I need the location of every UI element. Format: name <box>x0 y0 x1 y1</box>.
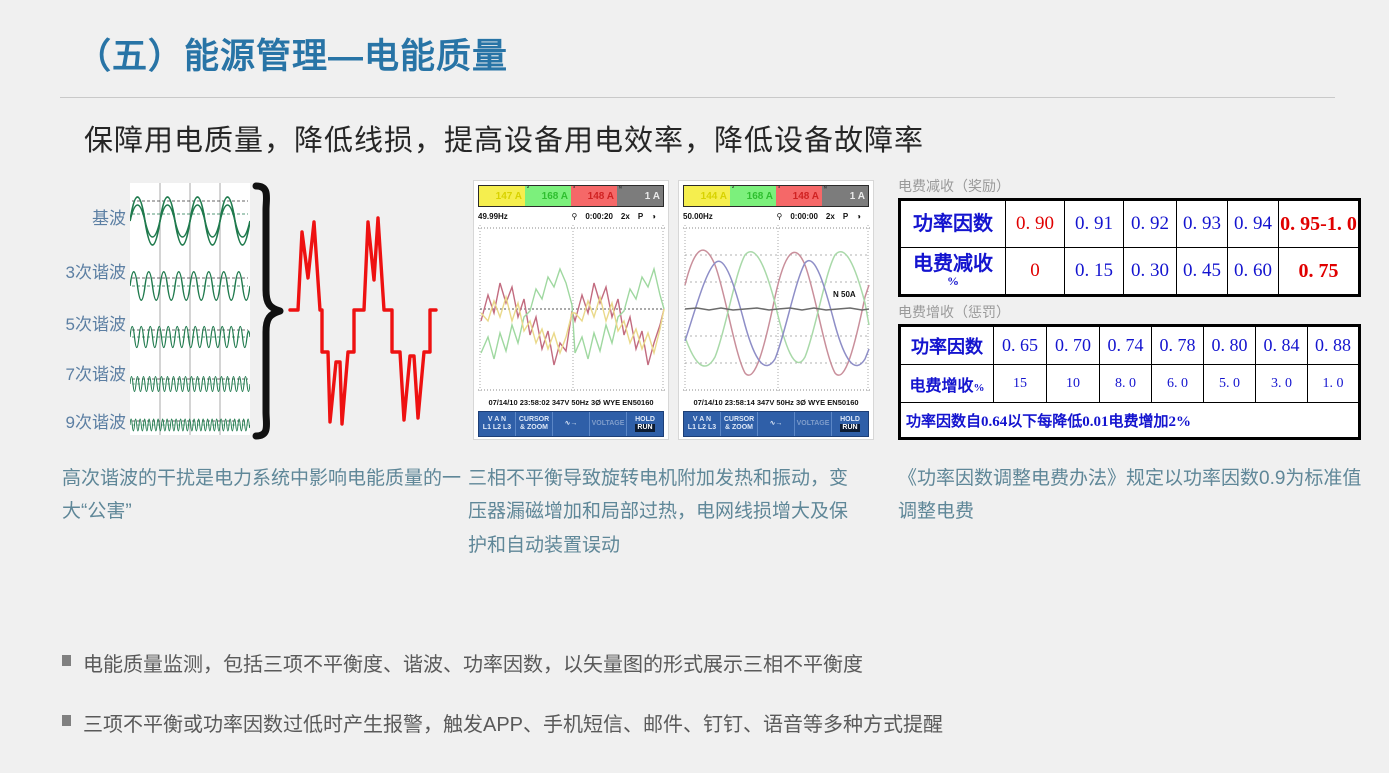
phase-segment-l1: 144 A <box>684 186 730 206</box>
waveform-plot-right: N 50A <box>683 225 869 393</box>
softkey-voltage[interactable]: VOLTAGE <box>795 412 832 436</box>
harmonic-label-3rd: 3次谐波 <box>66 258 126 283</box>
battery-icon: ◑ <box>651 212 656 221</box>
cell-pf-093: 0. 93 <box>1177 200 1228 248</box>
row-header-text: 电费增收 <box>909 378 973 395</box>
cell-pf-074: 0. 74 <box>1100 326 1152 365</box>
softkey-cursor-zoom[interactable]: CURSOR & ZOOM <box>721 412 758 436</box>
phase-segment-l2: ² 168 A <box>525 186 571 206</box>
softkey-line-1: HOLD <box>840 416 860 424</box>
subtitle: 保障用电质量，降低线损，提高设备用电效率，降低设备故障率 <box>84 117 924 159</box>
page-title: （五）能源管理—电能质量 <box>76 28 508 79</box>
penalty-note: 功率因数自0.64以下每降低0.01电费增加2% <box>900 403 1360 439</box>
cell-red-030: 0. 30 <box>1124 248 1177 296</box>
mode-flag: P <box>843 212 848 221</box>
zoom-level: 2x <box>621 212 630 221</box>
phase-segment-l2: ² 168 A <box>730 186 776 206</box>
cell-inc-80: 8. 0 <box>1100 365 1152 403</box>
waveform-arrow-icon: ∿→ <box>770 420 783 428</box>
elapsed-timer: 0:00:20 <box>585 212 613 221</box>
bullet-item-1: 电能质量监测，包括三项不平衡度、谐波、功率因数，以矢量图的形式展示三相不平衡度 <box>62 648 863 677</box>
cell-pf-070: 0. 70 <box>1047 326 1100 365</box>
phase-value: 1 A <box>850 191 865 202</box>
trigger-icon: ⚲ <box>571 212 577 221</box>
meter-footer-left: 07/14/10 23:58:02 347V 50Hz 3Ø WYE EN501… <box>478 395 664 409</box>
power-analyzer-screen-left: 147 A ² 168 A ³ 148 A ᴺ 1 A 49.99Hz ⚲ 0:… <box>473 180 669 440</box>
table-row: 功率因数 0. 90 0. 91 0. 92 0. 93 0. 94 0. 95… <box>900 200 1360 248</box>
row-header-reduction: 电费减收 % <box>900 248 1006 296</box>
frequency-readout: 50.00Hz <box>683 212 729 221</box>
harmonic-label-9th: 9次谐波 <box>66 408 126 433</box>
cell-pf-091: 0. 91 <box>1065 200 1124 248</box>
composite-waveform <box>288 192 470 432</box>
phase-segment-l3: ³ 148 A <box>571 186 617 206</box>
cell-red-045: 0. 45 <box>1177 248 1228 296</box>
phase-segment-l3: ³ 148 A <box>776 186 822 206</box>
row-header-power-factor: 功率因数 <box>900 326 994 365</box>
phase-value: 144 A <box>701 191 727 202</box>
harmonic-figure: 基波 3次谐波 5次谐波 7次谐波 9次谐波 <box>30 180 470 442</box>
softkey-line-1: CURSOR <box>519 416 549 424</box>
softkey-line-1: CURSOR <box>724 416 754 424</box>
waveform-plot-left <box>478 225 664 393</box>
bullet-square-icon <box>62 715 71 726</box>
meter-softkeys-left: V A N L1 L2 L3 CURSOR & ZOOM ∿→ VOLTAGE … <box>478 411 664 437</box>
softkey-waveform-icon[interactable]: ∿→ <box>758 412 795 436</box>
bullet-text: 电能质量监测，包括三项不平衡度、谐波、功率因数，以矢量图的形式展示三相不平衡度 <box>83 648 863 677</box>
bullet-item-2: 三项不平衡或功率因数过低时产生报警，触发APP、手机短信、邮件、钉钉、语音等多种… <box>62 708 943 737</box>
softkey-line-1: HOLD <box>635 416 655 424</box>
softkey-channel-select[interactable]: V A N L1 L2 L3 <box>479 412 516 436</box>
softkey-waveform-icon[interactable]: ∿→ <box>553 412 590 436</box>
elapsed-timer: 0:00:00 <box>790 212 818 221</box>
harmonic-label-fundamental: 基波 <box>92 204 126 229</box>
cell-red-060: 0. 60 <box>1228 248 1279 296</box>
row-header-unit: % <box>902 275 1004 288</box>
frequency-readout: 49.99Hz <box>478 212 524 221</box>
power-analyzer-screen-right: 144 A ² 168 A ³ 148 A ᴺ 1 A 50.00Hz ⚲ 0:… <box>678 180 874 440</box>
cell-inc-60: 6. 0 <box>1152 365 1204 403</box>
caption-harmonics: 高次谐波的干扰是电力系统中影响电能质量的一大“公害” <box>62 462 462 529</box>
phase-marker: ³ <box>573 186 575 192</box>
meter-status-row-right: 50.00Hz ⚲ 0:00:00 2x P ◑ <box>683 209 869 223</box>
phase-marker: ³ <box>778 186 780 192</box>
svg-text:N 50A: N 50A <box>833 290 856 299</box>
caption-tariff: 《功率因数调整电费办法》规定以功率因数0.9为标准值调整电费 <box>898 462 1368 529</box>
softkey-line-2: L1 L2 L3 <box>688 424 716 432</box>
cell-pf-095-10: 0. 95-1. 0 <box>1279 200 1360 248</box>
phase-marker: ² <box>732 186 734 192</box>
harmonic-label-5th: 5次谐波 <box>66 310 126 335</box>
mode-flag: P <box>638 212 643 221</box>
cell-inc-30: 3. 0 <box>1256 365 1308 403</box>
bullet-square-icon <box>62 655 71 666</box>
cell-pf-065: 0. 65 <box>994 326 1047 365</box>
cell-pf-090: 0. 90 <box>1006 200 1065 248</box>
table-row: 功率因数 0. 65 0. 70 0. 74 0. 78 0. 80 0. 84… <box>900 326 1360 365</box>
cell-pf-080: 0. 80 <box>1204 326 1256 365</box>
cell-pf-084: 0. 84 <box>1256 326 1308 365</box>
cell-red-015: 0. 15 <box>1065 248 1124 296</box>
phase-current-bar-left: 147 A ² 168 A ³ 148 A ᴺ 1 A <box>478 185 664 207</box>
phase-segment-n: ᴺ 1 A <box>822 186 868 206</box>
row-header-increase: 电费增收% <box>900 365 994 403</box>
softkey-line-1: V A N <box>488 416 506 424</box>
phase-segment-n: ᴺ 1 A <box>617 186 663 206</box>
cell-inc-10b: 1. 0 <box>1308 365 1360 403</box>
reward-table-caption: 电费减收（奖励） <box>898 176 1361 196</box>
penalty-table: 功率因数 0. 65 0. 70 0. 74 0. 78 0. 80 0. 84… <box>898 324 1361 440</box>
softkey-hold-run[interactable]: HOLD RUN <box>832 412 868 436</box>
harmonic-label-7th: 7次谐波 <box>66 360 126 385</box>
softkey-line-1: VOLTAGE <box>797 420 830 428</box>
slide-root: （五）能源管理—电能质量 保障用电质量，降低线损，提高设备用电效率，降低设备故障… <box>0 0 1389 773</box>
softkey-line-2: RUN <box>840 424 859 432</box>
softkey-channel-select[interactable]: V A N L1 L2 L3 <box>684 412 721 436</box>
phase-value: 168 A <box>542 191 568 202</box>
softkey-line-1: V A N <box>693 416 711 424</box>
penalty-table-caption: 电费增收（惩罚） <box>898 302 1361 322</box>
trigger-icon: ⚲ <box>776 212 782 221</box>
phase-value: 147 A <box>496 191 522 202</box>
softkey-line-2: L1 L2 L3 <box>483 424 511 432</box>
phase-value: 168 A <box>747 191 773 202</box>
zoom-level: 2x <box>826 212 835 221</box>
phase-value: 1 A <box>645 191 660 202</box>
cell-inc-10: 10 <box>1047 365 1100 403</box>
penalty-table-block: 电费增收（惩罚） 功率因数 0. 65 0. 70 0. 74 0. 78 0.… <box>898 302 1361 440</box>
row-header-unit: % <box>974 382 985 394</box>
harmonic-label-list: 基波 3次谐波 5次谐波 7次谐波 9次谐波 <box>30 180 130 442</box>
cell-pf-078: 0. 78 <box>1152 326 1204 365</box>
softkey-hold-run[interactable]: HOLD RUN <box>627 412 663 436</box>
reward-table-block: 电费减收（奖励） 功率因数 0. 90 0. 91 0. 92 0. 93 0.… <box>898 176 1361 297</box>
phase-current-bar-right: 144 A ² 168 A ³ 148 A ᴺ 1 A <box>683 185 869 207</box>
cell-red-075: 0. 75 <box>1279 248 1360 296</box>
cell-red-0: 0 <box>1006 248 1065 296</box>
phase-value: 148 A <box>588 191 614 202</box>
cell-pf-094: 0. 94 <box>1228 200 1279 248</box>
softkey-line-2: & ZOOM <box>520 424 548 432</box>
phase-segment-l1: 147 A <box>479 186 525 206</box>
harmonic-waves-svg <box>130 183 250 435</box>
battery-icon: ◑ <box>856 212 861 221</box>
softkey-line-2: & ZOOM <box>725 424 753 432</box>
softkey-line-1: VOLTAGE <box>592 420 625 428</box>
meter-softkeys-right: V A N L1 L2 L3 CURSOR & ZOOM ∿→ VOLTAGE … <box>683 411 869 437</box>
table-row: 电费减收 % 0 0. 15 0. 30 0. 45 0. 60 0. 75 <box>900 248 1360 296</box>
phase-marker: ² <box>527 186 529 192</box>
phase-marker: ᴺ <box>824 186 827 192</box>
bullet-text: 三项不平衡或功率因数过低时产生报警，触发APP、手机短信、邮件、钉钉、语音等多种… <box>83 708 943 737</box>
row-header-text: 电费减收 <box>913 253 993 275</box>
waveform-arrow-icon: ∿→ <box>565 420 578 428</box>
phase-value: 148 A <box>793 191 819 202</box>
table-row: 电费增收% 15 10 8. 0 6. 0 5. 0 3. 0 1. 0 <box>900 365 1360 403</box>
cell-pf-088: 0. 88 <box>1308 326 1360 365</box>
title-divider <box>60 97 1335 98</box>
cell-pf-092: 0. 92 <box>1124 200 1177 248</box>
caption-unbalance: 三相不平衡导致旋转电机附加发热和振动，变压器漏磁增加和局部过热，电网线损增大及保… <box>468 462 858 562</box>
phase-marker: ᴺ <box>619 186 622 192</box>
table-row: 功率因数自0.64以下每降低0.01电费增加2% <box>900 403 1360 439</box>
harmonic-wave-panel <box>130 183 250 435</box>
cell-inc-50: 5. 0 <box>1204 365 1256 403</box>
reward-table: 功率因数 0. 90 0. 91 0. 92 0. 93 0. 94 0. 95… <box>898 198 1361 297</box>
softkey-cursor-zoom[interactable]: CURSOR & ZOOM <box>516 412 553 436</box>
cell-inc-15: 15 <box>994 365 1047 403</box>
meter-footer-right: 07/14/10 23:58:14 347V 50Hz 3Ø WYE EN501… <box>683 395 869 409</box>
meter-status-row-left: 49.99Hz ⚲ 0:00:20 2x P ◑ <box>478 209 664 223</box>
softkey-line-2: RUN <box>635 424 654 432</box>
row-header-power-factor: 功率因数 <box>900 200 1006 248</box>
softkey-voltage[interactable]: VOLTAGE <box>590 412 627 436</box>
brace-icon <box>252 180 286 442</box>
